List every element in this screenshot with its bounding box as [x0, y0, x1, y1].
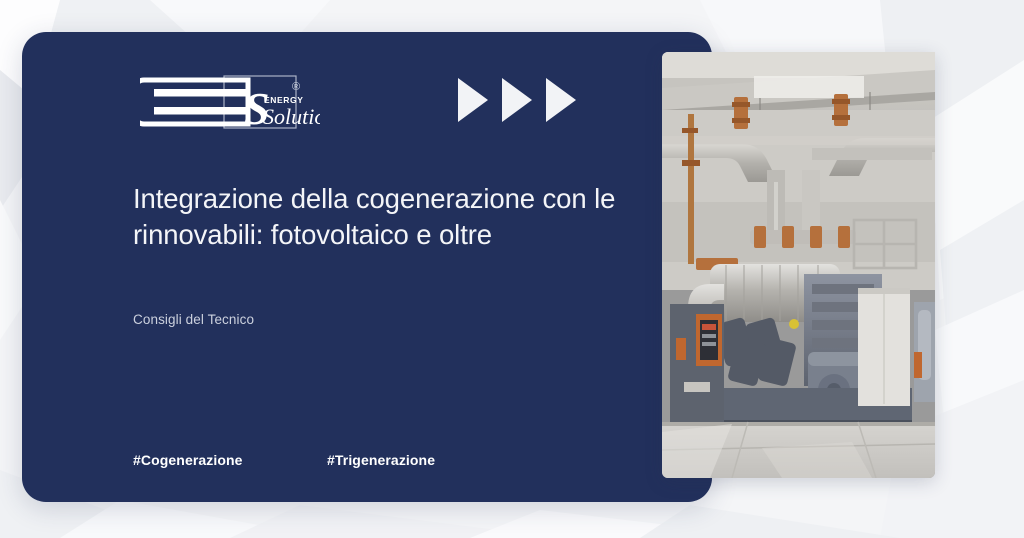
- logo-e-bar-bottom: [154, 107, 248, 115]
- page-title: Integrazione della cogenerazione con le …: [133, 181, 633, 253]
- page-subtitle: Consigli del Tecnico: [133, 312, 254, 327]
- hashtag-cogenerazione[interactable]: #Cogenerazione: [133, 452, 327, 468]
- logo-word-solution: Solution: [263, 104, 320, 129]
- play-triangle-icon-1: [458, 78, 488, 122]
- es-energy-solution-logo[interactable]: S ENERGY Solution ®: [140, 72, 320, 134]
- logo-e-bar-top: [154, 89, 248, 97]
- triple-chevron-arrows: [458, 78, 576, 122]
- logo-e-shell: [140, 80, 248, 124]
- registered-trademark-icon: ®: [292, 81, 300, 93]
- play-triangle-icon-2: [502, 78, 532, 122]
- content-card: [22, 32, 712, 502]
- logo-mark: S ENERGY Solution ®: [140, 72, 320, 134]
- play-triangle-icon-3: [546, 78, 576, 122]
- hashtag-list: #Cogenerazione #Trigenerazione: [133, 452, 435, 468]
- plant-photo-illustration: [662, 52, 935, 478]
- hashtag-trigenerazione[interactable]: #Trigenerazione: [327, 452, 435, 468]
- cogeneration-plant-photo: [662, 52, 935, 478]
